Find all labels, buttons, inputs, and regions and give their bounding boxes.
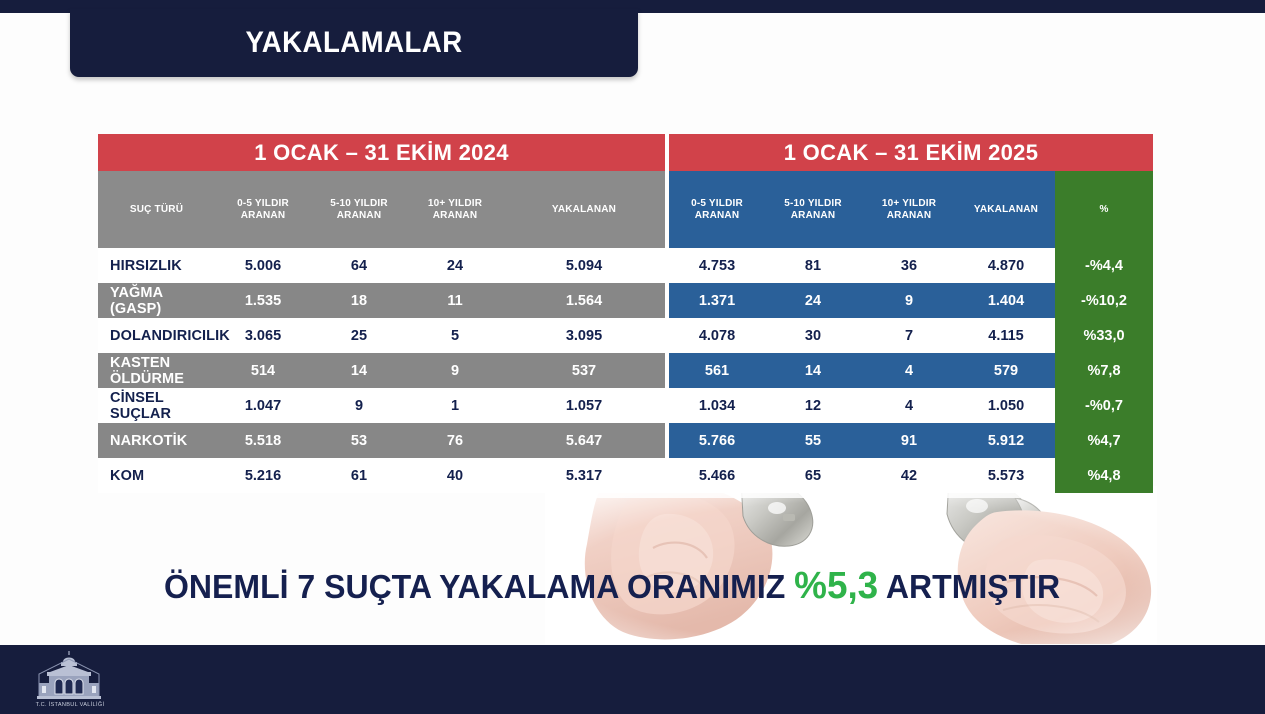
arrests-table: 1 OCAK – 31 EKİM 2024 1 OCAK – 31 EKİM 2… [98, 134, 1153, 493]
period-header-2024: 1 OCAK – 31 EKİM 2024 [98, 134, 665, 171]
table-row: HIRSIZLIK 5.006 64 24 5.094 4.753 81 36 … [98, 248, 1153, 283]
page-title: YAKALAMALAR [245, 26, 462, 60]
row-percent-change: %4,8 [1055, 458, 1153, 493]
row-2024-wanted-5-10: 61 [311, 458, 407, 493]
summary-statement: ÖNEMLİ 7 SUÇTA YAKALAMA ORANIMIZ %5,3 AR… [98, 565, 1126, 608]
row-2024-wanted-5-10: 64 [311, 248, 407, 283]
row-2025-wanted-5-10: 30 [765, 318, 861, 353]
page-title-plaque: YAKALAMALAR [70, 9, 638, 77]
row-percent-change: -%4,4 [1055, 248, 1153, 283]
istanbul-governorship-building-icon [30, 650, 108, 706]
row-crime-name: HIRSIZLIK [98, 248, 215, 283]
row-2024-wanted-10-plus: 24 [407, 248, 503, 283]
row-crime-name: CİNSEL SUÇLAR [98, 388, 215, 423]
row-percent-change: -%10,2 [1055, 283, 1153, 318]
row-2024-caught: 5.094 [503, 248, 665, 283]
row-2024-wanted-5-10: 14 [311, 353, 407, 388]
row-2025-caught: 579 [957, 353, 1055, 388]
row-2025-wanted-10-plus: 4 [861, 388, 957, 423]
row-2024-wanted-10-plus: 1 [407, 388, 503, 423]
table-row: DOLANDIRICILIK 3.065 25 5 3.095 4.078 30… [98, 318, 1153, 353]
table-row: KASTEN ÖLDÜRME 514 14 9 537 561 14 4 579… [98, 353, 1153, 388]
row-crime-name: KASTEN ÖLDÜRME [98, 353, 215, 388]
col-header-2025-wanted-5-10: 5-10 YILDIR ARANAN [765, 171, 861, 248]
row-2025-caught: 4.870 [957, 248, 1055, 283]
statement-highlight-value: %5,3 [794, 565, 878, 607]
statement-suffix: ARTMIŞTIR [878, 568, 1060, 605]
row-2024-caught: 1.057 [503, 388, 665, 423]
row-2024-caught: 1.564 [503, 283, 665, 318]
col-header-2024-wanted-0-5: 0-5 YILDIR ARANAN [215, 171, 311, 248]
arrests-table-container: 1 OCAK – 31 EKİM 2024 1 OCAK – 31 EKİM 2… [98, 134, 1153, 493]
row-2024-caught: 537 [503, 353, 665, 388]
table-row: NARKOTİK 5.518 53 76 5.647 5.766 55 91 5… [98, 423, 1153, 458]
row-crime-name: YAĞMA (GASP) [98, 283, 215, 318]
row-percent-change: %7,8 [1055, 353, 1153, 388]
row-crime-name: NARKOTİK [98, 423, 215, 458]
row-2024-wanted-0-5: 5.518 [215, 423, 311, 458]
row-2024-wanted-10-plus: 76 [407, 423, 503, 458]
row-2024-wanted-10-plus: 11 [407, 283, 503, 318]
col-header-percent: % [1055, 171, 1153, 248]
row-2025-wanted-0-5: 4.078 [669, 318, 765, 353]
row-2025-wanted-0-5: 1.371 [669, 283, 765, 318]
row-2025-wanted-5-10: 14 [765, 353, 861, 388]
row-percent-change: %4,7 [1055, 423, 1153, 458]
period-header-2025: 1 OCAK – 31 EKİM 2025 [669, 134, 1153, 171]
row-2025-wanted-0-5: 561 [669, 353, 765, 388]
row-2025-wanted-5-10: 81 [765, 248, 861, 283]
row-2024-wanted-5-10: 53 [311, 423, 407, 458]
row-2024-caught: 5.647 [503, 423, 665, 458]
row-2025-wanted-0-5: 5.766 [669, 423, 765, 458]
row-2025-caught: 4.115 [957, 318, 1055, 353]
col-header-2024-wanted-10-plus: 10+ YILDIR ARANAN [407, 171, 503, 248]
row-2024-wanted-5-10: 9 [311, 388, 407, 423]
row-2025-wanted-10-plus: 91 [861, 423, 957, 458]
row-2024-wanted-0-5: 514 [215, 353, 311, 388]
row-2025-wanted-10-plus: 7 [861, 318, 957, 353]
row-percent-change: %33,0 [1055, 318, 1153, 353]
row-2024-wanted-10-plus: 5 [407, 318, 503, 353]
row-2025-wanted-0-5: 5.466 [669, 458, 765, 493]
col-header-2024-caught: YAKALANAN [503, 171, 665, 248]
row-2024-wanted-5-10: 18 [311, 283, 407, 318]
column-header-row: SUÇ TÜRÜ 0-5 YILDIR ARANAN 5-10 YILDIR A… [98, 171, 1153, 248]
col-header-2025-wanted-10-plus: 10+ YILDIR ARANAN [861, 171, 957, 248]
row-2025-wanted-5-10: 65 [765, 458, 861, 493]
col-header-2025-wanted-0-5: 0-5 YILDIR ARANAN [669, 171, 765, 248]
row-2025-caught: 5.573 [957, 458, 1055, 493]
row-2024-caught: 3.095 [503, 318, 665, 353]
statement-prefix: ÖNEMLİ 7 SUÇTA YAKALAMA ORANIMIZ [164, 568, 794, 605]
row-2024-caught: 5.317 [503, 458, 665, 493]
row-2024-wanted-0-5: 1.535 [215, 283, 311, 318]
row-2025-caught: 1.404 [957, 283, 1055, 318]
row-2025-wanted-10-plus: 42 [861, 458, 957, 493]
row-2024-wanted-10-plus: 40 [407, 458, 503, 493]
period-header-row: 1 OCAK – 31 EKİM 2024 1 OCAK – 31 EKİM 2… [98, 134, 1153, 171]
row-2025-wanted-10-plus: 4 [861, 353, 957, 388]
logo-caption: T.C. İSTANBUL VALİLİĞİ [26, 702, 114, 708]
row-crime-name: KOM [98, 458, 215, 493]
row-2025-caught: 5.912 [957, 423, 1055, 458]
row-2025-wanted-10-plus: 9 [861, 283, 957, 318]
row-2024-wanted-10-plus: 9 [407, 353, 503, 388]
col-header-2024-wanted-5-10: 5-10 YILDIR ARANAN [311, 171, 407, 248]
row-2024-wanted-0-5: 1.047 [215, 388, 311, 423]
row-2025-wanted-0-5: 4.753 [669, 248, 765, 283]
row-2025-wanted-5-10: 12 [765, 388, 861, 423]
table-row: CİNSEL SUÇLAR 1.047 9 1 1.057 1.034 12 4… [98, 388, 1153, 423]
row-2025-wanted-0-5: 1.034 [669, 388, 765, 423]
row-2025-wanted-5-10: 55 [765, 423, 861, 458]
row-crime-name: DOLANDIRICILIK [98, 318, 215, 353]
row-2025-caught: 1.050 [957, 388, 1055, 423]
row-2024-wanted-5-10: 25 [311, 318, 407, 353]
table-row: KOM 5.216 61 40 5.317 5.466 65 42 5.573 … [98, 458, 1153, 493]
row-2025-wanted-10-plus: 36 [861, 248, 957, 283]
row-2024-wanted-0-5: 5.216 [215, 458, 311, 493]
table-row: YAĞMA (GASP) 1.535 18 11 1.564 1.371 24 … [98, 283, 1153, 318]
col-header-2025-caught: YAKALANAN [957, 171, 1055, 248]
row-2025-wanted-5-10: 24 [765, 283, 861, 318]
row-2024-wanted-0-5: 5.006 [215, 248, 311, 283]
bottom-navy-band [0, 645, 1265, 714]
col-header-crime-type: SUÇ TÜRÜ [98, 171, 215, 248]
row-percent-change: -%0,7 [1055, 388, 1153, 423]
